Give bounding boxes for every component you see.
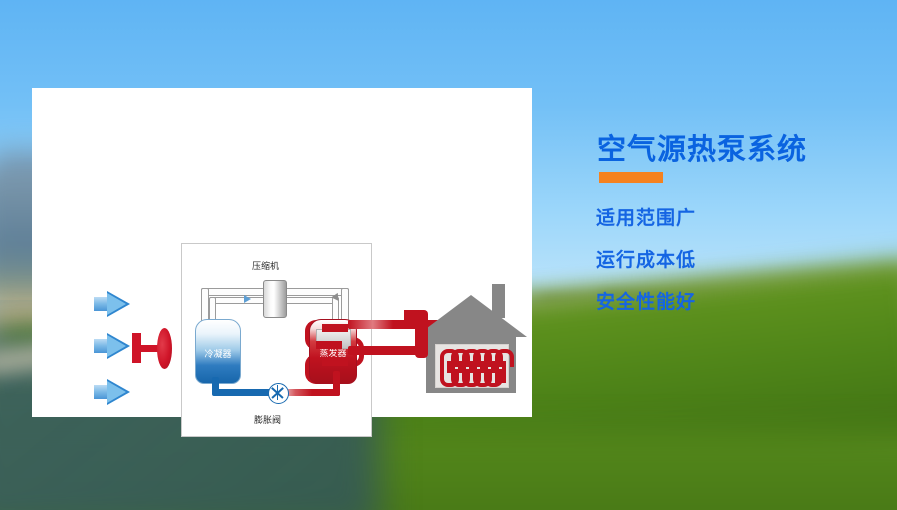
list-item: 安全性能好: [596, 287, 696, 314]
floor-coil-leg: [462, 361, 466, 373]
compressor-component: [263, 280, 287, 318]
floor-coil-leg: [440, 361, 444, 373]
vapor-line-vertical: [333, 371, 340, 396]
house-illustration: [415, 281, 527, 393]
evaporator-coil-run: [322, 324, 348, 332]
arrow-head-highlight: [107, 293, 126, 315]
expansion-valve-icon: [268, 383, 289, 404]
condenser-component: 冷凝器: [195, 319, 241, 384]
page-title: 空气源热泵系统: [597, 126, 807, 168]
floor-coil-leg: [495, 361, 499, 383]
roof: [415, 295, 527, 337]
liquid-line-horizontal: [212, 389, 274, 396]
airflow-arrow-icon: [94, 333, 130, 359]
floor-coil-leg: [484, 361, 488, 373]
arrow-head-highlight: [107, 335, 126, 357]
list-item: 适用范围广: [596, 203, 696, 230]
slide-root: 压缩机 膨胀阀 冷凝器 蒸发器: [0, 0, 897, 510]
return-flow-arrow-icon: [348, 346, 357, 358]
flow-direction-arrow-icon: [244, 295, 251, 303]
title-underline-rule: [599, 172, 663, 183]
fan-icon: [132, 328, 174, 368]
floor-coil-leg: [473, 361, 477, 373]
radiant-floor-area: [435, 344, 509, 388]
floor-coil-leg: [502, 361, 506, 383]
house-inlet-elbow: [415, 310, 428, 358]
valve-stem: [277, 385, 279, 400]
floor-coil-leg: [451, 361, 455, 373]
evaporator-coil-run: [316, 341, 342, 349]
arrow-head-highlight: [107, 381, 126, 403]
fan-blade: [157, 328, 172, 369]
house-supply-pipe-highlight: [348, 320, 393, 329]
compressor-label: 压缩机: [252, 259, 279, 272]
expansion-valve-label: 膨胀阀: [254, 413, 281, 426]
diagram-panel: 压缩机 膨胀阀 冷凝器 蒸发器: [32, 88, 532, 417]
feature-list: 适用范围广 运行成本低 安全性能好: [596, 203, 696, 329]
condenser-label: 冷凝器: [196, 347, 240, 360]
list-item: 运行成本低: [596, 245, 696, 272]
airflow-arrow-icon: [94, 379, 130, 405]
airflow-arrow-icon: [94, 291, 130, 317]
evaporator-coil-run: [322, 358, 348, 366]
